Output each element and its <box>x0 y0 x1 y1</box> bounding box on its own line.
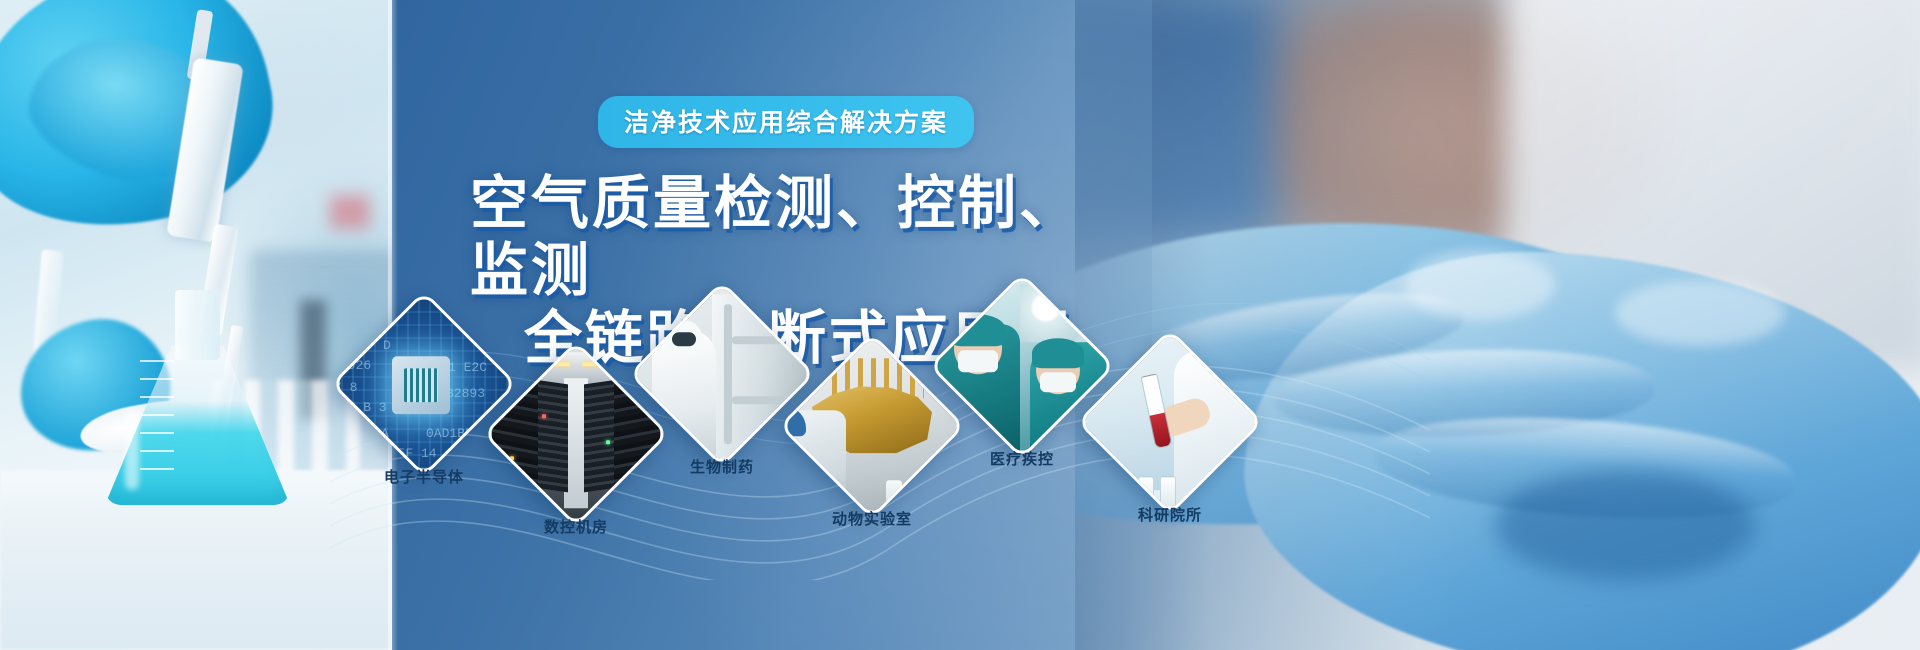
card-label: 电子半导体 <box>384 466 464 487</box>
industry-card[interactable]: 数控机房 <box>510 368 642 500</box>
industry-card[interactable]: 生物制药 <box>656 308 788 440</box>
card-label: 生物制药 <box>690 456 754 477</box>
card-label: 科研院所 <box>1138 504 1202 525</box>
industry-card[interactable]: 动物实验室 <box>806 360 938 492</box>
chip-die <box>392 356 450 414</box>
surgical-lamp <box>1020 284 1106 342</box>
indicator-light <box>778 310 790 322</box>
suit-visor <box>672 332 696 346</box>
card-label: 数控机房 <box>544 516 608 537</box>
industry-card[interactable]: 医疗疾控 <box>956 300 1088 432</box>
semiconductor-chip-icon: E2 F D 5926 7 8 0 E B 3 1 E2C B2893 B8 C… <box>331 294 518 477</box>
server-rack <box>538 380 568 492</box>
card-diamond: E2 F D 5926 7 8 0 E B 3 1 E2C B2893 B8 C… <box>331 291 518 478</box>
card-diamond <box>1077 329 1264 516</box>
card-diamond <box>629 281 816 468</box>
biopharma-cleanroom-icon <box>629 284 816 467</box>
industry-card[interactable]: 科研院所 <box>1104 356 1236 488</box>
research-institute-icon <box>1077 332 1264 515</box>
industry-card[interactable]: E2 F D 5926 7 8 0 E B 3 1 E2C B2893 B8 C… <box>358 318 490 450</box>
card-label: 动物实验室 <box>832 508 912 529</box>
industry-card-row: E2 F D 5926 7 8 0 E B 3 1 E2C B2893 B8 C… <box>0 0 1920 650</box>
card-label: 医疗疾控 <box>990 448 1054 469</box>
server-rack <box>584 380 614 492</box>
hero-banner: 洁净技术应用综合解决方案 空气质量检测、控制、监测 全链路诊断式应用服务 E2 … <box>0 0 1920 650</box>
